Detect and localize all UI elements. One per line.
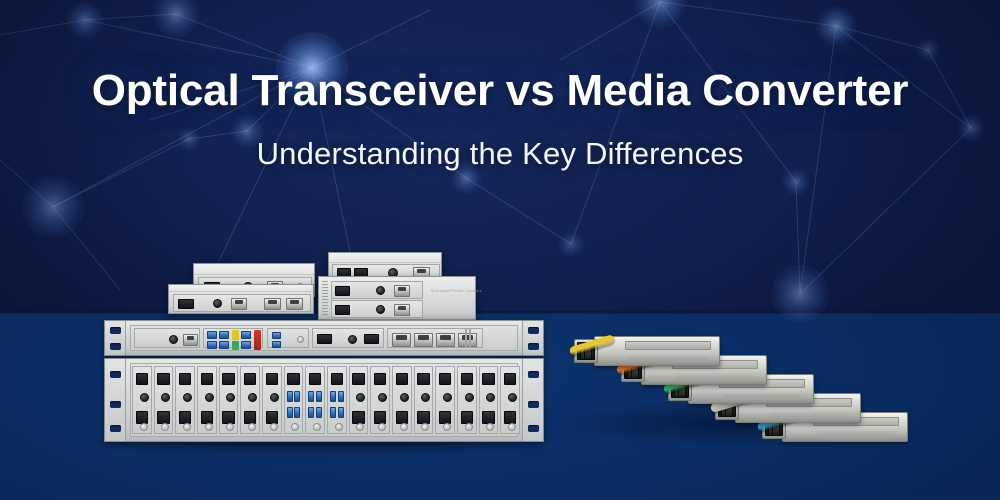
rj45-port xyxy=(414,333,433,347)
status-led-yellow xyxy=(232,330,239,340)
chassis-module-card xyxy=(457,366,477,434)
lc-connector xyxy=(316,407,322,418)
chassis-module-card xyxy=(305,366,325,434)
module-fiber-port xyxy=(201,411,213,424)
module-fiber-port xyxy=(439,373,451,385)
lc-connector xyxy=(330,391,336,402)
module-knob xyxy=(205,393,214,402)
rack-screw-hole xyxy=(528,401,539,408)
rack-ear-left xyxy=(105,321,126,355)
module-chassis-face xyxy=(130,363,518,437)
module-knob xyxy=(400,393,409,402)
mode-knob xyxy=(169,335,178,344)
chassis-module-card xyxy=(132,366,152,434)
module-chassis-2u xyxy=(104,358,544,442)
module-thumbscrew xyxy=(465,423,473,431)
module-fiber-port xyxy=(396,373,408,385)
module-fiber-port xyxy=(157,373,169,385)
module-knob xyxy=(226,393,235,402)
module-thumbscrew xyxy=(270,423,278,431)
module-fiber-port xyxy=(266,411,278,424)
module-fiber-port xyxy=(461,373,473,385)
lc-connector xyxy=(241,331,251,339)
module-fiber-port xyxy=(504,373,516,385)
chassis-module-card xyxy=(392,366,412,434)
status-led-green xyxy=(232,341,239,350)
mode-knob xyxy=(348,335,357,344)
chassis-module-card xyxy=(479,366,499,434)
rack-screw-hole xyxy=(110,343,121,350)
module-fiber-port xyxy=(179,411,191,424)
rj45-port xyxy=(436,333,455,347)
module-fiber-port xyxy=(179,373,191,385)
panel-slot xyxy=(465,328,467,348)
module-fiber-port xyxy=(201,373,213,385)
panel-slot xyxy=(469,328,471,348)
module-thumbscrew xyxy=(313,423,321,431)
lc-connector xyxy=(294,391,300,402)
lc-connector xyxy=(330,407,336,418)
module-fiber-port xyxy=(374,373,386,385)
chassis-module-card xyxy=(197,366,217,434)
module-knob xyxy=(183,393,192,402)
chassis-module-card xyxy=(262,366,282,434)
chassis-module-card xyxy=(349,366,369,434)
module-fiber-port xyxy=(309,373,321,385)
module-fiber-port xyxy=(439,411,451,424)
rack-screw-hole xyxy=(528,343,539,350)
lc-connector xyxy=(219,331,229,339)
module-thumbscrew xyxy=(291,423,299,431)
module-fiber-port xyxy=(244,411,256,424)
lc-connector xyxy=(287,407,293,418)
module-knob xyxy=(443,393,452,402)
rack-screw-hole xyxy=(528,327,539,334)
lc-connector xyxy=(287,391,293,402)
patch-panel-face xyxy=(130,325,518,351)
module-knob xyxy=(465,393,474,402)
chassis-module-card xyxy=(327,366,347,434)
module-knob xyxy=(378,393,387,402)
chassis-module-card xyxy=(240,366,260,434)
lc-connector xyxy=(272,332,281,339)
module-fiber-port xyxy=(136,373,148,385)
chassis-module-card xyxy=(370,366,390,434)
module-knob xyxy=(356,393,365,402)
rack-screw-hole xyxy=(528,425,539,432)
lc-connector xyxy=(294,407,300,418)
module-fiber-port xyxy=(396,411,408,424)
module-thumbscrew xyxy=(205,423,213,431)
lc-connector xyxy=(316,391,322,402)
module-thumbscrew xyxy=(226,423,234,431)
lc-fiber-port xyxy=(317,334,332,344)
module-knob xyxy=(270,393,279,402)
module-fiber-port xyxy=(244,373,256,385)
chassis-module-card xyxy=(175,366,195,434)
rack-chassis-assembly xyxy=(104,256,544,446)
rack-screw-hole xyxy=(110,371,121,378)
chassis-module-card xyxy=(500,366,520,434)
module-thumbscrew xyxy=(248,423,256,431)
module-knob xyxy=(486,393,495,402)
module-thumbscrew xyxy=(486,423,494,431)
lc-connector xyxy=(338,407,344,418)
module-fiber-port xyxy=(222,373,234,385)
module-knob xyxy=(248,393,257,402)
module-thumbscrew xyxy=(161,423,169,431)
module-thumbscrew xyxy=(378,423,386,431)
chassis-module-card xyxy=(435,366,455,434)
chassis-module-card xyxy=(154,366,174,434)
rack-ear-right xyxy=(522,359,543,441)
rack-screw-hole xyxy=(528,371,539,378)
module-knob xyxy=(161,393,170,402)
module-fiber-port xyxy=(461,411,473,424)
page-title: Optical Transceiver vs Media Converter xyxy=(0,66,1000,116)
module-thumbscrew xyxy=(421,423,429,431)
rj45-port xyxy=(392,333,411,347)
faceplate-screw xyxy=(297,336,304,343)
lc-connector xyxy=(272,341,281,348)
patch-panel-1u xyxy=(104,320,544,356)
rj45-port xyxy=(458,333,477,347)
module-knob xyxy=(140,393,149,402)
chassis-module-card xyxy=(284,366,304,434)
module-fiber-port xyxy=(331,373,343,385)
rack-screw-hole xyxy=(110,327,121,334)
module-thumbscrew xyxy=(140,423,148,431)
module-fiber-port xyxy=(482,373,494,385)
module-fiber-port xyxy=(136,411,148,424)
chassis-module-card xyxy=(414,366,434,434)
rack-screw-hole xyxy=(110,425,121,432)
lc-connector xyxy=(207,341,217,349)
rack-ear-left xyxy=(105,359,126,441)
banner-hero: Optical Transceiver vs Media Converter U… xyxy=(0,0,1000,500)
rj45-port xyxy=(183,334,198,346)
lc-connector xyxy=(308,391,314,402)
module-thumbscrew xyxy=(400,423,408,431)
chassis-module-card xyxy=(219,366,239,434)
module-thumbscrew xyxy=(508,423,516,431)
module-thumbscrew xyxy=(183,423,191,431)
lc-fiber-port xyxy=(364,334,379,344)
page-subtitle: Understanding the Key Differences xyxy=(0,136,1000,172)
module-thumbscrew xyxy=(356,423,364,431)
module-fiber-port xyxy=(417,373,429,385)
lc-connector xyxy=(219,341,229,349)
module-thumbscrew xyxy=(443,423,451,431)
lc-connector xyxy=(241,341,251,349)
lc-connector xyxy=(207,331,217,339)
module-fiber-port xyxy=(504,411,516,424)
lc-connector xyxy=(308,407,314,418)
module-knob xyxy=(421,393,430,402)
module-fiber-port xyxy=(352,373,364,385)
status-led-red xyxy=(254,330,261,350)
module-fiber-port xyxy=(266,373,278,385)
module-fiber-port xyxy=(287,373,299,385)
rack-ear-right xyxy=(522,321,543,355)
module-knob xyxy=(508,393,517,402)
module-thumbscrew xyxy=(335,423,343,431)
lc-connector xyxy=(338,391,344,402)
rack-screw-hole xyxy=(110,401,121,408)
module-fiber-port xyxy=(374,411,386,424)
